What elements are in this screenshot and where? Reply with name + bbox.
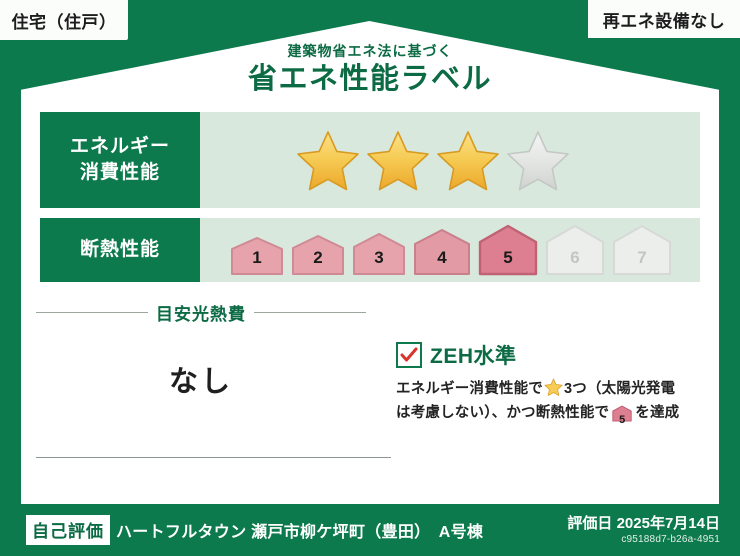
insulation-performance-row: 断熱性能 1 2	[40, 218, 700, 282]
insulation-grade-5: 5	[478, 224, 538, 276]
energy-performance-label-line1: エネルギー	[70, 134, 170, 160]
evaluation-date: 評価日 2025年7月14日	[567, 515, 720, 532]
footer-bar: 自己評価 ハートフルタウン 瀬戸市柳ケ坪町（豊田） A号棟 評価日 2025年7…	[0, 504, 740, 556]
building-type-tag: 住宅（住戸）	[0, 0, 128, 40]
insulation-grade-6-number: 6	[545, 248, 605, 268]
utility-cost-heading-label: 目安光熱費	[156, 300, 246, 325]
insulation-grade-6: 6	[545, 224, 605, 276]
insulation-grade-5-number: 5	[478, 248, 538, 268]
page-title: 建築物省エネ法に基づく 省エネ性能ラベル	[0, 44, 740, 98]
project-name: ハートフルタウン 瀬戸市柳ケ坪町（豊田） A号棟	[116, 518, 483, 542]
building-type-tag-label: 住宅（住戸）	[12, 8, 117, 33]
insulation-grade-scale: 1 2 3	[200, 224, 672, 276]
zeh-title-row: ZEH水準	[396, 340, 708, 370]
self-evaluation-badge: 自己評価	[26, 515, 110, 545]
checkbox-checked-icon	[396, 342, 422, 368]
insulation-grade-badge-inline: 5	[611, 405, 633, 431]
insulation-grade-3-number: 3	[352, 248, 406, 268]
insulation-grade-3: 3	[352, 232, 406, 276]
star-icon-inline	[544, 378, 563, 396]
metrics-section: エネルギー 消費性能	[40, 112, 700, 292]
star-icon-empty-4	[506, 129, 570, 191]
star-icon-filled-3	[436, 129, 500, 191]
utility-cost-value: なし	[36, 358, 366, 400]
energy-performance-label-box: エネルギー 消費性能	[40, 112, 200, 208]
insulation-grade-2-number: 2	[291, 248, 345, 268]
zeh-desc-part3: は考慮しない）、かつ断熱性能で	[396, 405, 609, 421]
page-title-main: 省エネ性能ラベル	[0, 61, 740, 97]
insulation-grade-1: 1	[230, 236, 284, 276]
evaluation-id: c95188d7-b26a-4951	[567, 534, 720, 546]
insulation-grade-7-number: 7	[612, 248, 672, 268]
energy-performance-row: エネルギー 消費性能	[40, 112, 700, 208]
insulation-grade-7: 7	[612, 224, 672, 276]
evaluation-meta: 評価日 2025年7月14日 c95188d7-b26a-4951	[567, 514, 720, 546]
insulation-grade-4-number: 4	[413, 248, 471, 268]
zeh-description: エネルギー消費性能で3つ（太陽光発電は考慮しない）、かつ断熱性能で5を達成	[396, 378, 708, 431]
zeh-desc-part1: エネルギー消費性能で	[396, 381, 543, 397]
insulation-grade-4: 4	[413, 228, 471, 276]
star-rating	[200, 129, 570, 191]
utility-cost-heading: 目安光熱費	[36, 300, 366, 325]
insulation-performance-value: 1 2 3	[200, 218, 700, 282]
insulation-grade-1-number: 1	[230, 248, 284, 268]
zeh-desc-part4: を達成	[635, 405, 679, 421]
energy-performance-label: 住宅（住戸） 再エネ設備なし 建築物省エネ法に基づく 省エネ性能ラベル エネルギ…	[0, 0, 740, 556]
insulation-performance-label: 断熱性能	[80, 237, 160, 263]
utility-cost-rule-left	[36, 312, 148, 313]
renewable-equipment-tag-label: 再エネ設備なし	[603, 7, 726, 32]
page-subtitle: 建築物省エネ法に基づく	[0, 44, 740, 59]
insulation-grade-badge-inline-number: 5	[611, 411, 633, 429]
zeh-desc-part2: 3つ（太陽光発電	[564, 381, 675, 397]
footer-divider-rule	[36, 457, 391, 458]
star-icon-filled-1	[296, 129, 360, 191]
star-icon-filled-2	[366, 129, 430, 191]
energy-performance-value	[200, 112, 700, 208]
renewable-equipment-tag: 再エネ設備なし	[588, 0, 740, 38]
utility-cost-rule-right	[254, 312, 366, 313]
zeh-title-label: ZEH水準	[430, 340, 517, 370]
insulation-grade-2: 2	[291, 234, 345, 276]
energy-performance-label-line2: 消費性能	[80, 160, 160, 186]
zeh-standard-block: ZEH水準 エネルギー消費性能で3つ（太陽光発電は考慮しない）、かつ断熱性能で5…	[396, 340, 708, 431]
insulation-performance-label-box: 断熱性能	[40, 218, 200, 282]
